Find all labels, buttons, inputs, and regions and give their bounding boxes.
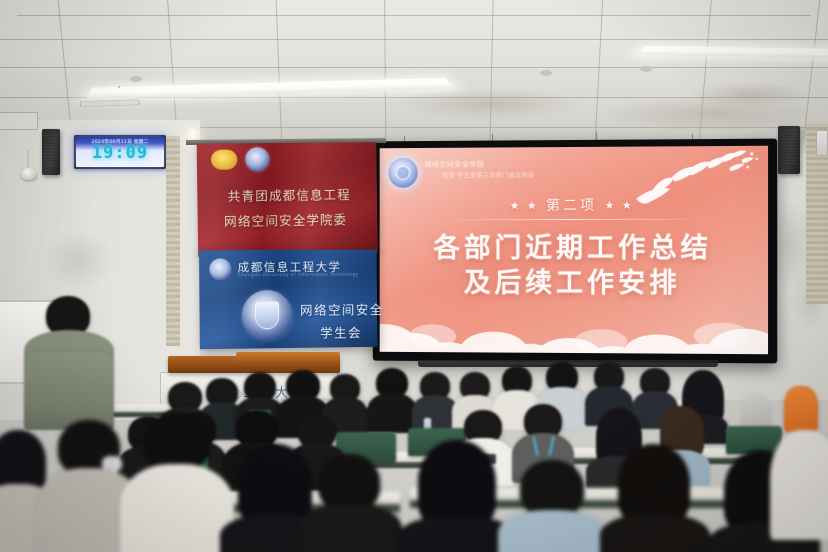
slide-content: 网络空间安全学院 团委·学生会第三次部门会议例会 ★ ★ 第二项 ★ ★ 各部门… <box>380 146 768 355</box>
podium-ledge <box>236 352 340 361</box>
slide-title: 各部门近期工作总结 及后续工作安排 <box>380 231 768 302</box>
banner-blue-university-en: Chengdu University of Information Techno… <box>238 273 359 279</box>
star-decoration-left: ★ ★ <box>510 199 539 212</box>
head <box>144 412 210 472</box>
lecture-hall-scene: 2024年06月11日 星期二 19:09 网络空间安全学院 团委·学生会第三次… <box>0 0 828 552</box>
wall-access-panel <box>0 112 38 130</box>
banner-red: 共青团成都信息工程 网络空间安全学院委 <box>197 142 378 257</box>
wall-speaker-right <box>778 126 800 174</box>
smoke-detector <box>640 66 652 72</box>
banner-blue-dept-line-1: 网络空间安全 <box>300 299 384 319</box>
slide-title-line-1: 各部门近期工作总结 <box>380 231 768 266</box>
window-blind <box>166 136 180 346</box>
torso <box>24 352 114 430</box>
orange-chair <box>784 386 818 432</box>
banner-red-line-1: 共青团成都信息工程 <box>228 184 351 205</box>
hair <box>418 440 496 528</box>
camera-mount-arm <box>27 150 29 170</box>
torso <box>298 504 402 552</box>
dome-security-camera <box>21 168 37 180</box>
dove-graphic <box>628 150 760 223</box>
wall-scuff <box>44 230 114 290</box>
banner-blue: 成都信息工程大学 Chengdu University of Informati… <box>199 250 377 350</box>
clock-date: 2024年06月11日 星期二 <box>91 138 148 145</box>
slide-item-text: 第二项 <box>546 198 597 214</box>
slide-org-line: 网络空间安全学院 <box>425 160 485 170</box>
banner-red-line-2: 网络空间安全学院委 <box>224 209 347 230</box>
university-emblem-icon <box>209 258 231 280</box>
wall-speaker-left <box>42 129 60 175</box>
ceiling-stain <box>400 88 580 120</box>
torso <box>367 393 417 433</box>
slide-title-line-2: 及后续工作安排 <box>380 266 768 302</box>
torso <box>498 510 606 552</box>
wall-clock-display: 2024年06月11日 星期二 19:09 <box>74 135 166 169</box>
clock-time: 19:09 <box>92 145 148 162</box>
torso <box>600 514 710 552</box>
projector-screen[interactable]: 网络空间安全学院 团委·学生会第三次部门会议例会 ★ ★ 第二项 ★ ★ 各部门… <box>373 139 777 364</box>
university-emblem-icon <box>388 158 417 188</box>
wall-fixture <box>816 130 828 156</box>
hair <box>618 444 690 524</box>
slide-sub-line: 团委·学生会第三次部门会议例会 <box>442 170 534 179</box>
banner-blue-dept-line-2: 学生会 <box>320 322 362 341</box>
torso <box>770 430 828 540</box>
ceiling-vent <box>118 86 120 88</box>
smoke-detector <box>540 70 552 76</box>
communist-youth-league-emblem-icon <box>211 149 238 169</box>
ceiling-stain <box>690 82 810 108</box>
university-crest-icon <box>242 290 293 341</box>
torso <box>120 464 234 552</box>
clock-screen: 2024年06月11日 星期二 19:09 <box>76 137 164 167</box>
smoke-detector <box>130 76 142 82</box>
university-emblem-icon <box>245 147 269 171</box>
